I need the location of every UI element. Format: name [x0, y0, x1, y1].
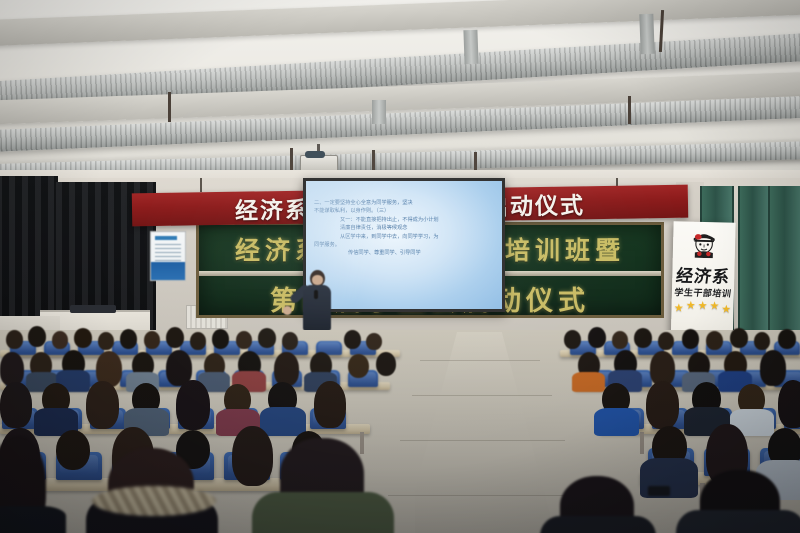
projector-lens [305, 151, 325, 158]
desk-equipment [70, 305, 116, 313]
duct-stub [463, 30, 478, 64]
vertical-banner-title: 经济系 [671, 261, 736, 287]
vertical-banner-subtitle: 学生干部培训 [671, 285, 735, 299]
lecture-hall-photo: 经济系学生干部青英培训班暨 第四届学生会启动仪式 欢迎各位领导同学 经济系学生干… [0, 0, 800, 533]
speaker-presenter [296, 268, 338, 338]
banner-rope [200, 178, 202, 192]
wall-notice-poster [150, 231, 186, 281]
star-icon: ★ [709, 301, 719, 312]
vertical-banner-stars: ★ ★ ★ ★ ★ [671, 303, 733, 316]
duct-hanger [168, 92, 171, 122]
duct-stub [639, 14, 654, 54]
star-icon: ★ [674, 303, 684, 314]
duct-stub [372, 100, 386, 124]
ceiling [0, 0, 800, 190]
speaker-face [312, 275, 323, 285]
star-icon: ★ [698, 301, 708, 312]
phone-on-desk [648, 486, 670, 496]
fur-hood-trim [92, 486, 216, 516]
microphone-icon [314, 290, 318, 299]
duct-hanger [628, 96, 631, 124]
duct-hanger [474, 152, 477, 172]
duct-hanger [290, 148, 293, 170]
duct-hanger [372, 150, 375, 172]
notice-header [155, 236, 177, 240]
ceiling-beam [0, 0, 800, 46]
lei-feng-portrait-icon [689, 228, 720, 259]
star-icon: ★ [686, 301, 696, 312]
star-icon: ★ [721, 304, 731, 315]
